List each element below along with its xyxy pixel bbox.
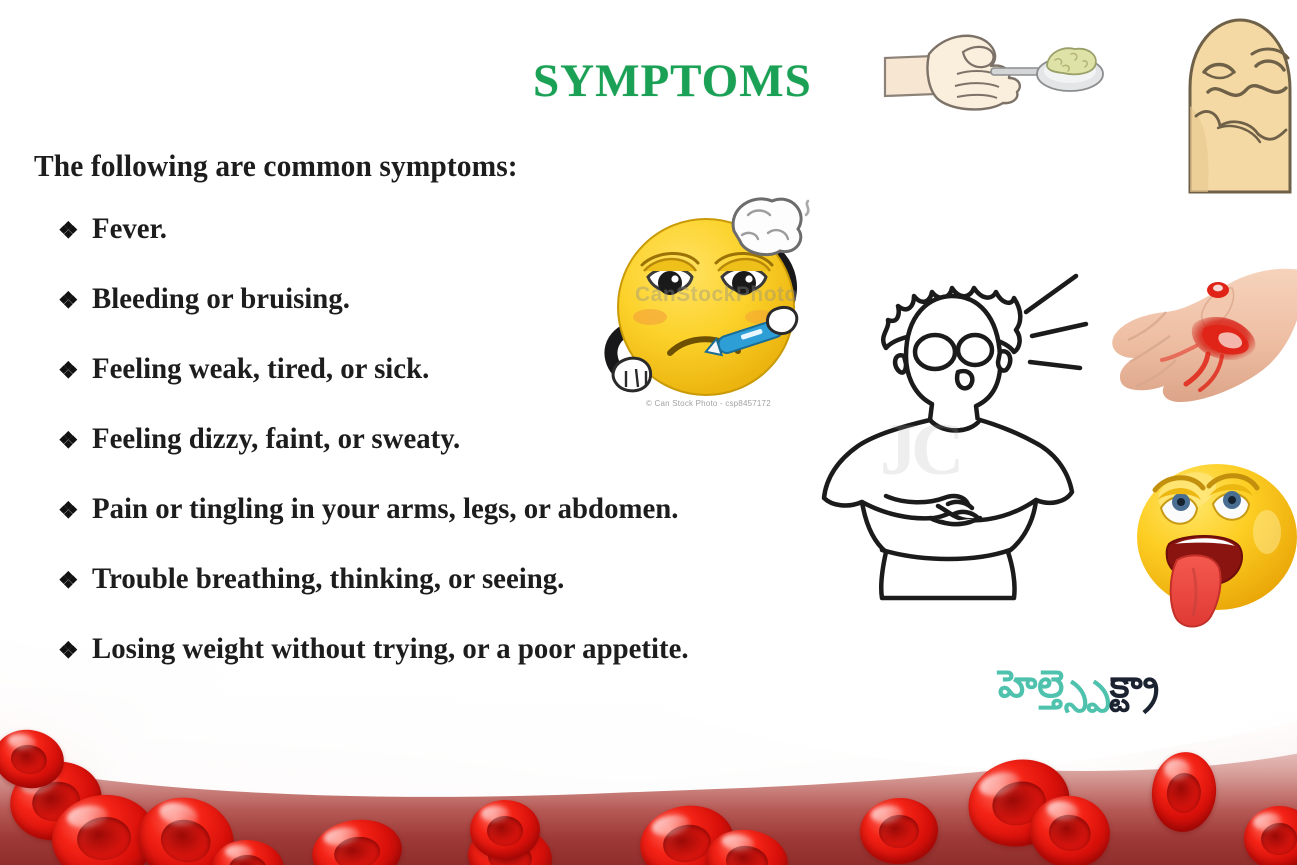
- list-item: ❖ Trouble breathing, thinking, or seeing…: [58, 562, 713, 596]
- logo-part-b: స్పెక్ట్రా: [1110, 664, 1160, 706]
- page-title: SYMPTOMS: [533, 54, 812, 108]
- symptom-text: Bleeding or bruising.: [92, 282, 350, 316]
- list-item: ❖ Pain or tingling in your arms, legs, o…: [58, 492, 713, 526]
- symptom-text: Pain or tingling in your arms, legs, or …: [92, 492, 678, 526]
- list-item: ❖ Losing weight without trying, or a poo…: [58, 632, 713, 666]
- list-item: ❖ Bleeding or bruising.: [58, 282, 713, 316]
- red-blood-cell: [470, 800, 540, 860]
- floret-bullet-icon: ❖: [58, 499, 92, 522]
- logo-part-a: హెల్త్: [998, 664, 1110, 706]
- symptom-text: Losing weight without trying, or a poor …: [92, 632, 689, 666]
- hand-with-spoon-icon: [885, 8, 1185, 128]
- floret-bullet-icon: ❖: [58, 569, 92, 592]
- symptom-text: Trouble breathing, thinking, or seeing.: [92, 562, 564, 596]
- exhausted-emoji-tongue-out-icon: [1135, 452, 1297, 630]
- floret-bullet-icon: ❖: [58, 359, 92, 382]
- brand-logo[interactable]: హెల్త్స్పెక్ట్రా: [998, 666, 1159, 704]
- list-item: ❖ Feeling weak, tired, or sick.: [58, 352, 713, 386]
- bleeding-hand-photo: [1108, 262, 1297, 410]
- list-item: ❖ Fever.: [58, 212, 713, 246]
- symptom-text: Feeling weak, tired, or sick.: [92, 352, 429, 386]
- floret-bullet-icon: ❖: [58, 639, 92, 662]
- slide-canvas: SYMPTOMS The following are common sympto…: [0, 0, 1297, 865]
- boy-holding-stomach-icon: [818, 252, 1103, 602]
- cell-highlight: [481, 806, 509, 822]
- floret-bullet-icon: ❖: [58, 219, 92, 242]
- floret-bullet-icon: ❖: [58, 289, 92, 312]
- nauseated-face-icon: [1160, 10, 1297, 195]
- symptom-list: ❖ Fever. ❖ Bleeding or bruising. ❖ Feeli…: [58, 212, 713, 702]
- subtitle: The following are common symptoms:: [34, 148, 518, 184]
- symptom-text: Feeling dizzy, faint, or sweaty.: [92, 422, 460, 456]
- floret-bullet-icon: ❖: [58, 429, 92, 452]
- canstock-credit: © Can Stock Photo - csp8457172: [646, 399, 771, 408]
- list-item: ❖ Feeling dizzy, faint, or sweaty.: [58, 422, 713, 456]
- symptom-text: Fever.: [92, 212, 167, 246]
